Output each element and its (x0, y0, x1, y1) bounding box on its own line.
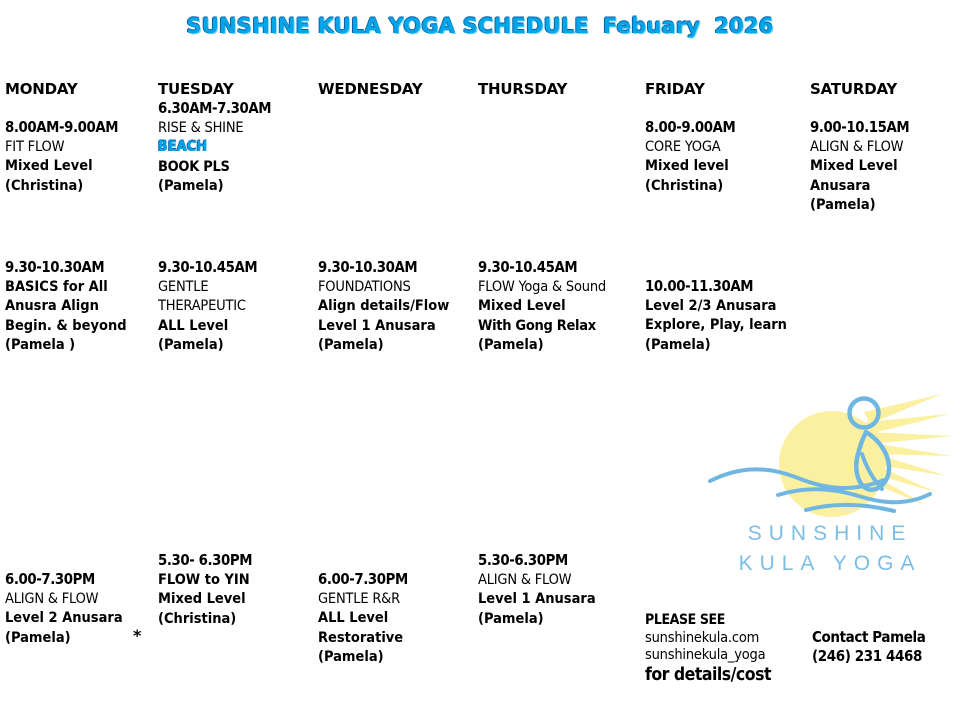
class-detail-line: Mixed level (645, 157, 810, 177)
class-block-tuesday-2[interactable]: 9.30-10.45AMGENTLETHERAPEUTICALL Level(P… (158, 258, 323, 356)
class-detail-line: (Christina) (5, 177, 170, 197)
class-detail-line: Level 1 Anusara (478, 590, 643, 610)
day-header-friday: FRIDAY (645, 80, 705, 98)
class-time: 9.30-10.45AM (478, 258, 643, 278)
contact-name: Contact Pamela (812, 628, 960, 647)
day-header-tuesday: TUESDAY (158, 80, 234, 98)
class-detail-line: BASICS for All (5, 278, 170, 298)
class-detail-line: FLOW Yoga & Sound (478, 278, 643, 298)
class-time: 9.30-10.45AM (158, 258, 323, 278)
class-detail-line: CORE YOGA (645, 138, 810, 158)
class-detail-line: Level 2 Anusara (5, 609, 170, 629)
title-year: 2026 (714, 14, 773, 38)
contact-block: Contact Pamela (246) 231 4468 (812, 628, 960, 666)
class-detail-line: Mixed Level (810, 157, 960, 177)
class-time: 6.00-7.30PM (318, 570, 483, 590)
class-time: 9.30-10.30AM (5, 258, 170, 278)
class-block-tuesday-3[interactable]: 5.30- 6.30PMFLOW to YINMixed Level(Chris… (158, 551, 323, 629)
class-time: 6.30AM-7.30AM (158, 99, 323, 119)
class-detail-line: (Pamela) (158, 177, 323, 197)
class-detail-line: BOOK PLS (158, 158, 323, 178)
class-time: 6.00-7.30PM (5, 570, 170, 590)
class-detail-line: (Pamela) (318, 336, 483, 356)
class-detail-line: Begin. & beyond (5, 317, 170, 337)
class-detail-line: ALIGN & FLOW (5, 590, 170, 610)
class-detail-line: Level 1 Anusara (318, 317, 483, 337)
title-month: Febuary (603, 14, 700, 38)
class-detail-line: RISE & SHINE (158, 119, 323, 139)
class-detail-line: Anusara (810, 177, 960, 197)
day-header-wednesday: WEDNESDAY (318, 80, 423, 98)
class-block-monday-2[interactable]: 9.30-10.30AMBASICS for AllAnusra AlignBe… (5, 258, 170, 356)
class-detail-line: (Pamela ) (5, 336, 170, 356)
class-block-friday-1[interactable]: 8.00-9.00AMCORE YOGAMixed level(Christin… (645, 118, 810, 196)
class-detail-line: Restorative (318, 629, 483, 649)
class-block-thursday-3[interactable]: 5.30-6.30PMALIGN & FLOWLevel 1 Anusara(P… (478, 551, 643, 629)
class-detail-line: (Christina) (645, 177, 810, 197)
class-time: 10.00-11.30AM (645, 277, 810, 297)
class-time: 9.00-10.15AM (810, 118, 960, 138)
class-block-saturday-1[interactable]: 9.00-10.15AMALIGN & FLOWMixed LevelAnusa… (810, 118, 960, 216)
sunshine-kula-yoga-logo: SUNSHINE KULA YOGA (706, 392, 954, 580)
class-detail-line: ALL Level (158, 317, 323, 337)
class-detail-line: GENTLE (158, 278, 323, 298)
class-detail-line: (Pamela) (5, 629, 170, 649)
class-block-wednesday-3[interactable]: 6.00-7.30PMGENTLE R&RALL LevelRestorativ… (318, 570, 483, 668)
class-block-tuesday-1[interactable]: 6.30AM-7.30AMRISE & SHINEBEACHBOOK PLS(P… (158, 99, 323, 197)
class-detail-line: ALL Level (318, 609, 483, 629)
class-detail-line: (Pamela) (810, 196, 960, 216)
class-detail-line: THERAPEUTIC (158, 297, 323, 317)
class-detail-line: Mixed Level (5, 157, 170, 177)
class-detail-line: Align details/Flow (318, 297, 483, 317)
class-detail-line: Mixed Level (478, 297, 643, 317)
class-detail-line: (Pamela) (478, 336, 643, 356)
class-time: 5.30- 6.30PM (158, 551, 323, 571)
class-detail-line: (Pamela) (158, 336, 323, 356)
class-block-monday-3[interactable]: 6.00-7.30PMALIGN & FLOWLevel 2 Anusara(P… (5, 570, 170, 648)
class-detail-line: (Pamela) (478, 610, 643, 630)
class-block-wednesday-2[interactable]: 9.30-10.30AMFOUNDATIONSAlign details/Flo… (318, 258, 483, 356)
class-detail-line: FIT FLOW (5, 138, 170, 158)
class-time: 8.00-9.00AM (645, 118, 810, 138)
class-detail-line: Level 2/3 Anusara (645, 297, 810, 317)
class-detail-line: GENTLE R&R (318, 590, 483, 610)
day-header-saturday: SATURDAY (810, 80, 897, 98)
class-time: 5.30-6.30PM (478, 551, 643, 571)
details-cost-label: for details/cost (645, 665, 845, 686)
class-detail-line: ALIGN & FLOW (810, 138, 960, 158)
class-detail-line: (Pamela) (318, 648, 483, 668)
please-see-label: PLEASE SEE (645, 612, 845, 630)
class-time: 8.00AM-9.00AM (5, 118, 170, 138)
page-title: SUNSHINE KULA YOGA SCHEDULEFebuary2026 (0, 14, 960, 38)
class-detail-line: Explore, Play, learn (645, 316, 810, 336)
class-detail-line: FOUNDATIONS (318, 278, 483, 298)
class-detail-line: FLOW to YIN (158, 571, 323, 591)
class-block-monday-1[interactable]: 8.00AM-9.00AMFIT FLOWMixed Level(Christi… (5, 118, 170, 196)
class-detail-line: With Gong Relax (478, 317, 643, 337)
class-detail-line: Mixed Level (158, 590, 323, 610)
day-header-monday: MONDAY (5, 80, 78, 98)
logo-word-kula-yoga: KULA YOGA (739, 552, 922, 575)
class-block-thursday-2[interactable]: 9.30-10.45AMFLOW Yoga & SoundMixed Level… (478, 258, 643, 356)
logo-word-sunshine: SUNSHINE (748, 522, 913, 545)
contact-phone[interactable]: (246) 231 4468 (812, 647, 960, 666)
class-detail-line: Anusra Align (5, 297, 170, 317)
class-block-friday-2[interactable]: 10.00-11.30AMLevel 2/3 AnusaraExplore, P… (645, 277, 810, 355)
class-detail-line: BEACH (158, 138, 323, 158)
class-detail-line: ALIGN & FLOW (478, 571, 643, 591)
class-time: 9.30-10.30AM (318, 258, 483, 278)
class-detail-line: (Christina) (158, 610, 323, 630)
title-studio: SUNSHINE KULA YOGA SCHEDULE (186, 14, 589, 38)
class-detail-line: (Pamela) (645, 336, 810, 356)
day-header-thursday: THURSDAY (478, 80, 567, 98)
